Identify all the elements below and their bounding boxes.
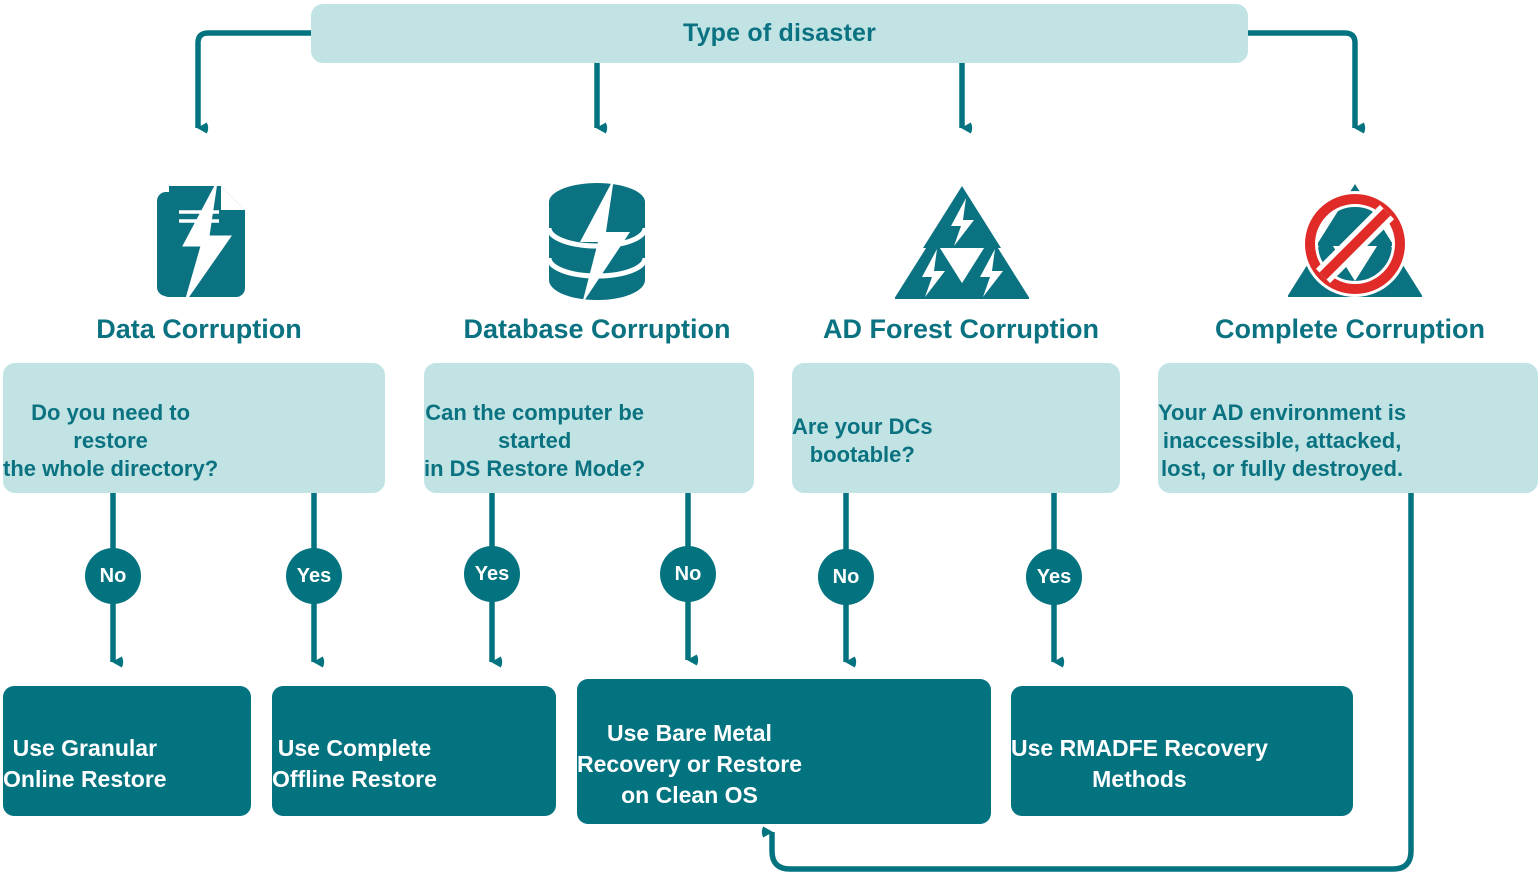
category-label-data-corruption: Data Corruption [0,314,398,345]
edge-badge-label: Yes [475,563,509,586]
ad-forest-lightning-icon [895,180,1029,305]
edge-badge-no-2: No [660,546,716,602]
question-text: Can the computer be started in DS Restor… [424,399,645,483]
ad-forest-glyph [895,180,1029,305]
edge-badge-label: No [833,566,860,589]
category-label-ad-forest-corruption: AD Forest Corruption [762,314,1160,345]
database-lightning-icon [534,180,660,305]
wire-root-to-data [198,33,311,128]
forest-prohibited-icon [1288,178,1422,305]
outcome-box-complete-offline-restore: Use Complete Offline Restore [272,686,556,816]
database-lightning-glyph [534,180,660,305]
outcome-text: Use Complete Offline Restore [272,733,437,795]
outcome-text: Use Bare Metal Recovery or Restore on Cl… [577,718,802,810]
category-label-complete-corruption: Complete Corruption [1155,314,1538,345]
edge-badge-label: Yes [297,565,331,588]
outcome-box-rmadfe-recovery: Use RMADFE Recovery Methods [1011,686,1353,816]
edge-badge-yes-1: Yes [286,548,342,604]
question-text: Are your DCs bootable? [792,413,933,469]
question-text: Do you need to restore the whole directo… [3,399,218,483]
outcome-text: Use RMADFE Recovery Methods [1011,733,1268,795]
question-box-ad-forest-corruption: Are your DCs bootable? [792,363,1120,493]
document-lightning-glyph [135,180,265,305]
question-text: Your AD environment is inaccessible, att… [1158,399,1406,483]
document-lightning-icon [135,180,265,305]
edge-badge-label: No [675,563,702,586]
category-label-database-corruption: Database Corruption [398,314,796,345]
question-box-data-corruption: Do you need to restore the whole directo… [3,363,385,493]
type-of-disaster-label: Type of disaster [683,19,876,48]
question-box-database-corruption: Can the computer be started in DS Restor… [424,363,754,493]
outcome-text: Use Granular Online Restore [3,733,167,795]
type-of-disaster-box: Type of disaster [311,4,1248,63]
edge-badge-label: Yes [1037,566,1071,589]
edge-badge-yes-2: Yes [464,546,520,602]
edge-badge-label: No [100,565,127,588]
wire-root-to-complete [1248,33,1355,128]
edge-badge-no-1: No [85,548,141,604]
outcome-box-bare-metal-recovery: Use Bare Metal Recovery or Restore on Cl… [577,679,991,824]
edge-badge-yes-3: Yes [1026,549,1082,605]
flowchart-canvas: Type of disaster [0,0,1538,885]
forest-prohibited-glyph [1288,178,1422,305]
outcome-box-granular-online-restore: Use Granular Online Restore [3,686,251,816]
question-box-complete-corruption: Your AD environment is inaccessible, att… [1158,363,1538,493]
edge-badge-no-3: No [818,549,874,605]
